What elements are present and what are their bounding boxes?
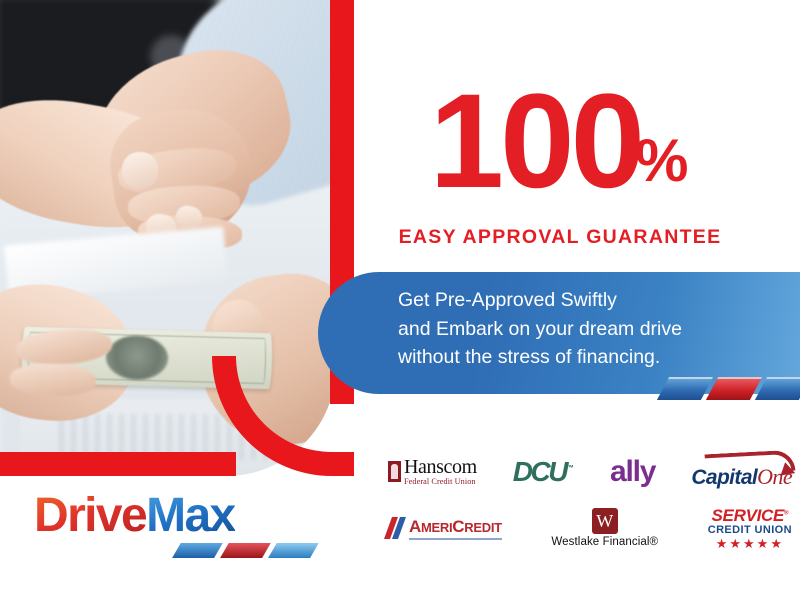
- partner-logo-hanscom[interactable]: Hanscom Federal Credit Union: [388, 457, 477, 486]
- americredit-name-part1: A: [409, 517, 421, 536]
- chevron-decoration: [663, 377, 793, 399]
- westlake-w-mark-icon: W: [592, 508, 618, 534]
- hanscom-name: Hanscom: [404, 457, 477, 477]
- chevron-icon: [268, 541, 320, 558]
- callout-line-2: and Embark on your dream drive: [398, 315, 758, 344]
- chevron-icon: [657, 377, 713, 400]
- logo-chevron-underline: [177, 541, 319, 556]
- logo-text-drive: Drive: [34, 489, 146, 542]
- americredit-name-part3: C: [452, 517, 464, 536]
- capital-one-swoosh-icon: [705, 449, 796, 475]
- hero-photo: [0, 0, 336, 476]
- chevron-icon: [706, 377, 762, 400]
- partner-logo-service-credit-union[interactable]: SERVICE® CREDIT UNION ★★★★★: [708, 507, 792, 550]
- hanscom-subtitle: Federal Credit Union: [404, 478, 477, 486]
- scu-stars-icon: ★★★★★: [708, 537, 792, 550]
- scu-name-part1: SERVICE: [712, 506, 785, 525]
- westlake-mark-letter: W: [596, 512, 613, 530]
- headline-number: 100: [430, 78, 642, 207]
- advertisement-banner: 100% EASY APPROVAL GUARANTEE Get Pre-App…: [0, 0, 800, 600]
- hanscom-emblem-icon: [388, 461, 401, 482]
- chevron-icon: [755, 377, 800, 400]
- partner-logo-westlake-financial[interactable]: W Westlake Financial®: [551, 508, 658, 549]
- americredit-slashes-icon: [384, 517, 410, 539]
- headline-percent-symbol: %: [635, 126, 686, 195]
- drivemax-logo[interactable]: DriveMax: [34, 492, 314, 558]
- scu-trademark: ®: [784, 510, 788, 516]
- partner-logo-ally[interactable]: ally: [610, 455, 655, 489]
- partner-logo-row-1: Hanscom Federal Credit Union DCU™ ally C…: [388, 444, 792, 500]
- chevron-icon: [220, 541, 272, 558]
- headline-hundred-percent: 100%: [396, 78, 726, 207]
- americredit-name-part2: MERI: [421, 520, 452, 535]
- americredit-name-part4: REDIT: [464, 520, 502, 535]
- partner-logo-capital-one[interactable]: CapitalOne: [691, 455, 792, 490]
- callout-line-3: without the stress of financing.: [398, 343, 758, 372]
- chevron-icon: [172, 541, 224, 558]
- partner-logo-dcu[interactable]: DCU™: [513, 456, 574, 488]
- fingernail: [122, 152, 158, 189]
- ally-name: ally: [610, 455, 655, 489]
- partner-logo-row-2: AMERICREDIT W Westlake Financial® SERVIC…: [388, 500, 792, 556]
- dcu-name: DCU: [513, 456, 566, 487]
- headline-tagline: EASY APPROVAL GUARANTEE: [390, 226, 730, 249]
- callout-line-1: Get Pre-Approved Swiftly: [398, 286, 758, 315]
- westlake-name: Westlake Financial®: [551, 537, 658, 549]
- dcu-trademark: ™: [566, 464, 574, 473]
- scu-name-part2: CREDIT UNION: [708, 525, 792, 536]
- partner-logos: Hanscom Federal Credit Union DCU™ ally C…: [388, 444, 792, 556]
- callout-text: Get Pre-Approved Swiftly and Embark on y…: [398, 286, 758, 372]
- partner-logo-americredit[interactable]: AMERICREDIT: [388, 517, 502, 540]
- drivemax-wordmark: DriveMax: [34, 492, 314, 540]
- logo-text-max: Max: [146, 489, 235, 542]
